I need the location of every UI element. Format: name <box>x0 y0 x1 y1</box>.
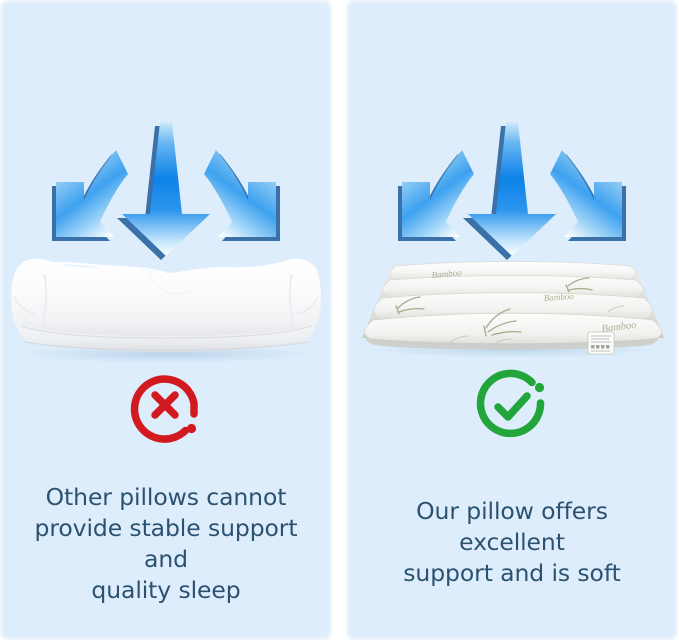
panel-other-pillows: Other pillows cannot provide stable supp… <box>0 0 332 640</box>
svg-text:Bamboo: Bamboo <box>543 291 574 303</box>
x-circle-icon <box>0 368 332 444</box>
three-down-arrows-icon <box>346 104 678 264</box>
care-label-tag <box>588 332 614 354</box>
bamboo-quilted-pillow-icon: Bamboo Bamboo Bamboo <box>346 246 678 366</box>
panel-our-pillow: Bamboo Bamboo Bamboo <box>346 0 678 640</box>
comparison-stage: Other pillows cannot provide stable supp… <box>0 0 679 640</box>
caption-other-pillows: Other pillows cannot provide stable supp… <box>16 482 316 606</box>
three-down-arrows-icon <box>0 104 332 264</box>
check-circle-icon <box>346 368 678 444</box>
plain-white-pillow-icon <box>0 246 332 366</box>
caption-our-pillow: Our pillow offers excellent support and … <box>362 496 662 589</box>
